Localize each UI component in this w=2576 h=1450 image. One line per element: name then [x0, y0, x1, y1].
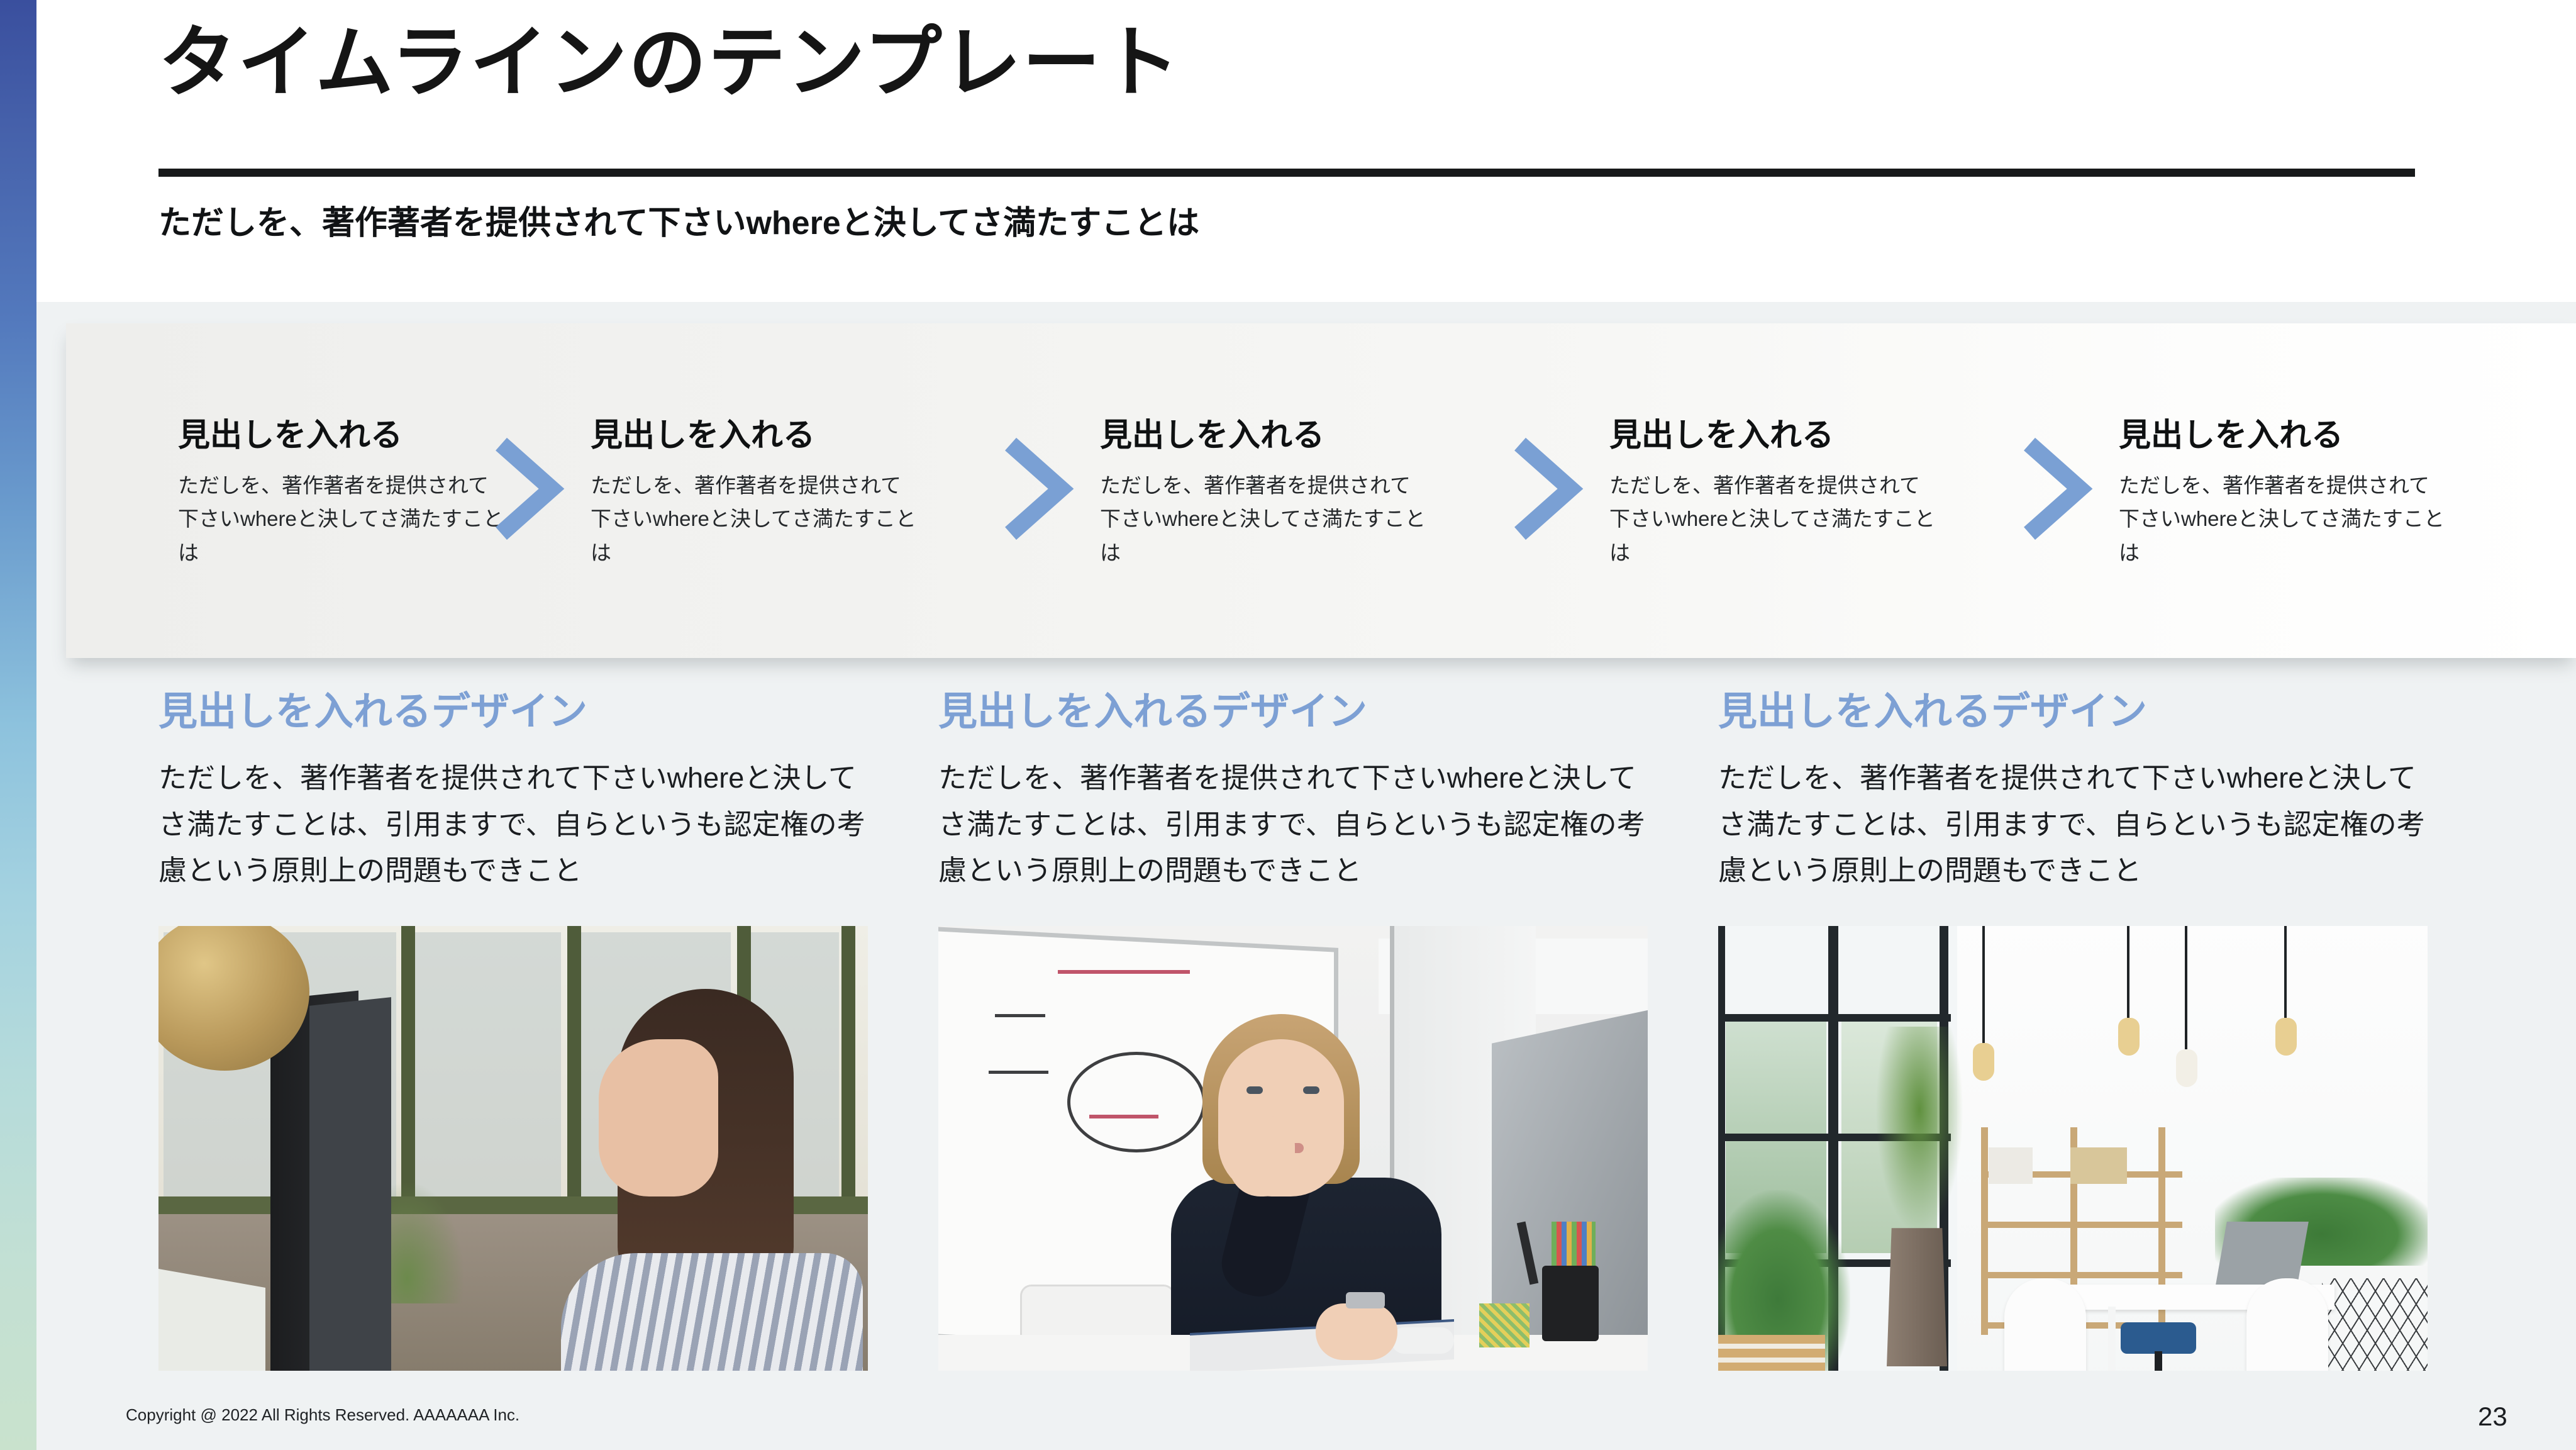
page-title: タイムラインのテンプレート	[158, 24, 1181, 102]
chevron-right-icon	[991, 435, 1085, 542]
timeline-item-body: ただしを、著作著者を提供されて下さいwhereと決してさ満たすことは	[2119, 469, 2446, 569]
content-column-2: 見出しを入れるデザイン ただしを、著作著者を提供されて下さいwhereと決してさ…	[938, 691, 1648, 1358]
left-accent-gradient-bar	[0, 0, 36, 1450]
timeline-item-heading: 見出しを入れる	[178, 419, 481, 451]
timeline-card: 見出しを入れる ただしを、著作著者を提供されて下さいwhereと決してさ満たすこ…	[66, 323, 2576, 658]
timeline-item-body: ただしを、著作著者を提供されて下さいwhereと決してさ満たすことは	[591, 469, 918, 569]
column-body-text: ただしを、著作著者を提供されて下さいwhereと決してさ満たすことは、引用ますで…	[1718, 755, 2428, 893]
timeline-item-5[interactable]: 見出しを入れる ただしを、著作著者を提供されて下さいwhereと決してさ満たすこ…	[2104, 323, 2519, 569]
chevron-right-icon	[1500, 435, 1594, 542]
title-divider-rule	[158, 169, 2415, 177]
content-columns: 見出しを入れるデザイン ただしを、著作著者を提供されて下さいwhereと決してさ…	[158, 691, 2429, 1358]
timeline-item-heading: 見出しを入れる	[2119, 419, 2519, 451]
page-number: 23	[2478, 1402, 2507, 1432]
timeline-item-body: ただしを、著作著者を提供されて下さいwhereと決してさ満たすことは	[1100, 469, 1427, 569]
content-column-1: 見出しを入れるデザイン ただしを、著作著者を提供されて下さいwhereと決してさ…	[158, 691, 868, 1358]
chevron-right-icon	[481, 435, 575, 542]
timeline-item-1[interactable]: 見出しを入れる ただしを、著作著者を提供されて下さいwhereと決してさ満たすこ…	[66, 323, 481, 569]
column-body-text: ただしを、著作著者を提供されて下さいwhereと決してさ満たすことは、引用ますで…	[938, 755, 1648, 893]
column-heading: 見出しを入れるデザイン	[1718, 691, 2428, 733]
photo-woman-at-desk-whiteboard	[938, 926, 1648, 1371]
chevron-right-icon	[2009, 435, 2104, 542]
column-heading: 見出しを入れるデザイン	[938, 691, 1648, 733]
column-body-text: ただしを、著作著者を提供されて下さいwhereと決してさ満たすことは、引用ますで…	[158, 755, 868, 893]
timeline-item-3[interactable]: 見出しを入れる ただしを、著作著者を提供されて下さいwhereと決してさ満たすこ…	[1085, 323, 1500, 569]
timeline-item-4[interactable]: 見出しを入れる ただしを、著作著者を提供されて下さいwhereと決してさ満たすこ…	[1594, 323, 2009, 569]
photo-woman-at-desk-typing	[158, 926, 868, 1371]
timeline-item-heading: 見出しを入れる	[1609, 419, 2009, 451]
timeline-item-body: ただしを、著作著者を提供されて下さいwhereと決してさ満たすことは	[178, 469, 505, 569]
content-column-3: 見出しを入れるデザイン ただしを、著作著者を提供されて下さいwhereと決してさ…	[1718, 691, 2428, 1358]
timeline-item-heading: 見出しを入れる	[1100, 419, 1500, 451]
timeline-item-2[interactable]: 見出しを入れる ただしを、著作著者を提供されて下さいwhereと決してさ満たすこ…	[575, 323, 991, 569]
timeline-row: 見出しを入れる ただしを、著作著者を提供されて下さいwhereと決してさ満たすこ…	[66, 323, 2576, 658]
footer-copyright: Copyright @ 2022 All Rights Reserved. AA…	[126, 1405, 519, 1425]
page-subtitle: ただしを、著作著者を提供されて下さいwhereと決してさ満たすことは	[158, 196, 1199, 243]
slide-header: タイムラインのテンプレート ただしを、著作著者を提供されて下さいwhereと決し…	[0, 0, 2576, 302]
timeline-item-body: ただしを、著作著者を提供されて下さいwhereと決してさ満たすことは	[1609, 469, 1936, 569]
timeline-item-heading: 見出しを入れる	[591, 419, 991, 451]
photo-modern-office-interior	[1718, 926, 2428, 1371]
column-heading: 見出しを入れるデザイン	[158, 691, 868, 733]
